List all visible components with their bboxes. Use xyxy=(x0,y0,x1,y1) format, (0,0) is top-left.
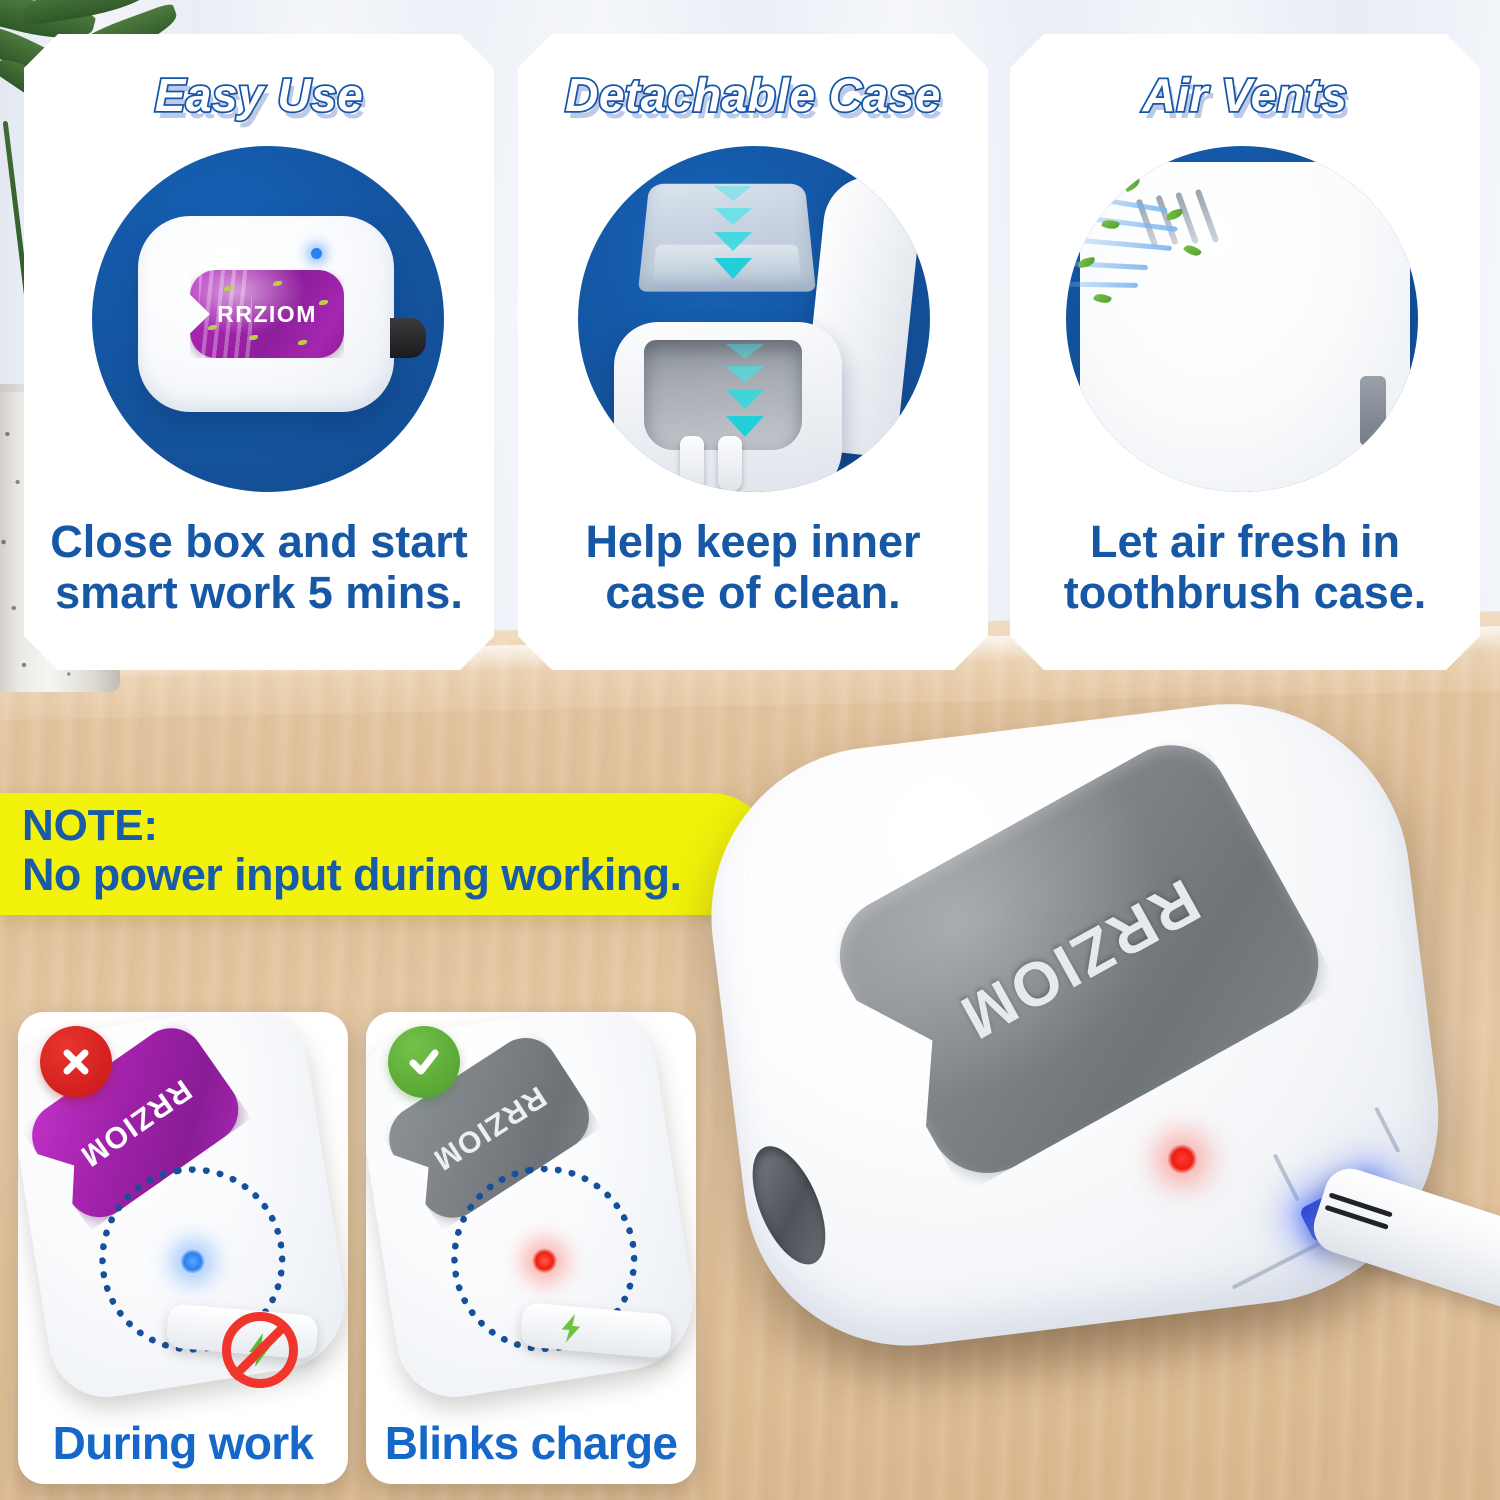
side-port xyxy=(1360,376,1386,446)
note-title: NOTE: xyxy=(22,801,158,851)
comparison-card-caption: Blinks charge xyxy=(366,1416,696,1470)
comparison-card-during-work: RRZIOM During work xyxy=(18,1012,348,1484)
hero-device-body: RRZIOM xyxy=(692,684,1460,1365)
feature-card-caption: Close box and start smart work 5 mins. xyxy=(40,516,478,619)
brand-logo-text: RRZIOM xyxy=(947,864,1211,1053)
blue-led-icon xyxy=(311,248,322,259)
feature-card-caption: Let air fresh in toothbrush case. xyxy=(1026,516,1464,619)
note-body: No power input during working. xyxy=(22,849,681,901)
brush-holder-prong xyxy=(718,436,742,492)
brand-logo-text: RRZIOM xyxy=(217,301,317,328)
feature-art-circle-air-vents xyxy=(1066,146,1418,492)
no-charging-icon xyxy=(222,1312,298,1388)
device-body-closeup xyxy=(1080,162,1410,492)
feature-card-title: Air Vents xyxy=(1010,68,1480,122)
check-mark-icon xyxy=(388,1026,460,1098)
feature-card-detachable-case: Detachable Case Help keep inner case of … xyxy=(518,34,988,670)
device-hinge xyxy=(390,318,426,358)
brush-holder-prong xyxy=(680,436,704,492)
hero-product-image: RRZIOM xyxy=(700,700,1500,1500)
feature-card-air-vents: Air Vents Let air fresh in toothbrush ca… xyxy=(1010,34,1480,670)
uv-panel: RRZIOM xyxy=(190,270,344,358)
feature-card-title: Easy Use xyxy=(24,68,494,122)
feature-card-title: Detachable Case xyxy=(518,68,988,122)
comparison-card-blinks-charge: RRZIOM Blinks charge xyxy=(366,1012,696,1484)
feature-card-caption: Help keep inner case of clean. xyxy=(534,516,972,619)
x-mark-icon xyxy=(40,1026,112,1098)
feature-art-circle-easy-use: RRZIOM xyxy=(92,146,444,492)
red-led-icon xyxy=(1166,1142,1199,1175)
device-closed: RRZIOM xyxy=(138,216,394,412)
brand-logo-text: RRZIOM xyxy=(426,1079,552,1177)
comparison-card-caption: During work xyxy=(18,1416,348,1470)
feature-card-easy-use: Easy Use RRZIOM Close box and start smar… xyxy=(24,34,494,670)
inner-cavity xyxy=(644,340,802,450)
hero-brand-panel: RRZIOM xyxy=(818,724,1340,1195)
note-banner: NOTE: No power input during working. xyxy=(0,793,772,915)
feature-art-circle-detachable xyxy=(578,146,930,492)
